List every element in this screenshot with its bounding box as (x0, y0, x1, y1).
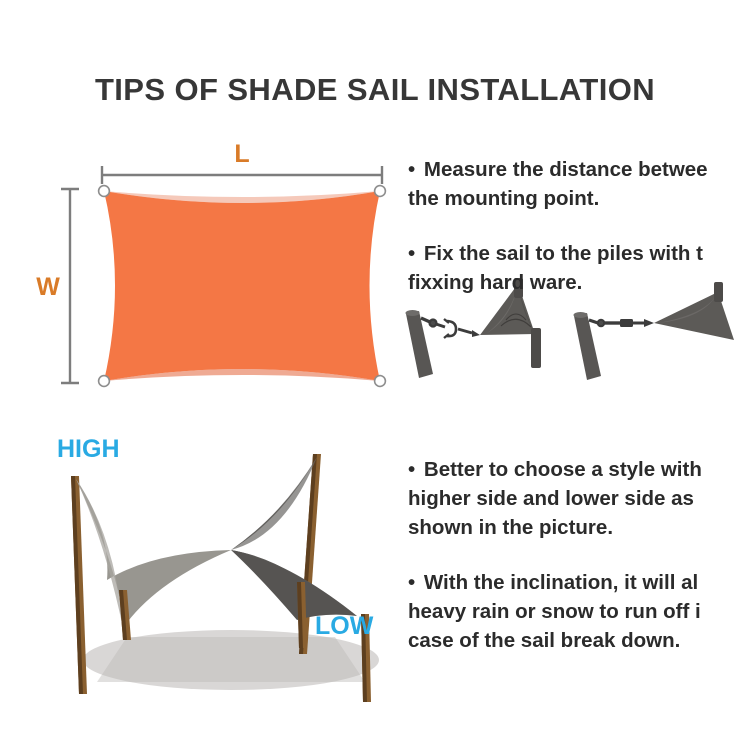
tip-paragraph: • Fix the sail to the piles with t fixxi… (408, 239, 750, 297)
sail-light (76, 479, 231, 628)
tip-paragraph: • Better to choose a style with higher s… (408, 455, 750, 542)
length-label: L (234, 140, 249, 168)
dimension-diagram: L W (30, 135, 405, 410)
bullet-icon: • (408, 158, 418, 181)
low-label: LOW (315, 612, 374, 640)
tip-line-text: Better to choose a style with (424, 458, 702, 481)
turnbuckle-left (421, 318, 480, 338)
tip-line: heavy rain or snow to run off i (408, 597, 750, 626)
tip-line: • Fix the sail to the piles with t (408, 239, 750, 268)
infographic-root: TIPS OF SHADE SAIL INSTALLATION (0, 0, 750, 750)
bullet-icon: • (408, 458, 418, 481)
anchor-tab-left-bottom (531, 328, 541, 368)
sail-dark (231, 457, 357, 620)
length-dimension-line (102, 166, 382, 184)
tips-text-top: • Measure the distance betwee the mounti… (408, 155, 750, 297)
bullet-icon: • (408, 571, 418, 594)
tip-line-text: With the inclination, it will al (424, 571, 698, 594)
tip-line: • With the inclination, it will al (408, 568, 750, 597)
grommet-bottom-left (99, 376, 110, 387)
turnbuckle-right (589, 319, 654, 327)
tip-line-text: Fix the sail to the piles with t (424, 242, 703, 265)
width-dimension-line (61, 189, 79, 383)
grommet-bottom-right (375, 376, 386, 387)
grommet-top-left (99, 186, 110, 197)
tip-line: fixxing hard ware. (408, 268, 750, 297)
ground-shadow-band (97, 637, 365, 682)
installation-diagram: HIGH LOW (35, 432, 415, 717)
width-label: W (36, 273, 60, 301)
bullet-icon: • (408, 242, 418, 265)
post-back-left (71, 476, 87, 694)
high-label: HIGH (57, 435, 120, 463)
page-title: TIPS OF SHADE SAIL INSTALLATION (0, 72, 750, 108)
tip-line: shown in the picture. (408, 513, 750, 542)
grommet-top-right (375, 186, 386, 197)
tip-line: case of the sail break down. (408, 626, 750, 655)
installation-diagram-svg: HIGH LOW (35, 432, 415, 717)
tip-line-text: Measure the distance betwee (424, 158, 708, 181)
tips-text-bottom: • Better to choose a style with higher s… (408, 455, 750, 655)
tip-line: • Better to choose a style with (408, 455, 750, 484)
shade-sail-shape (104, 191, 380, 381)
dimension-diagram-svg: L W (30, 135, 405, 410)
tip-paragraph: • With the inclination, it will al heavy… (408, 568, 750, 655)
tip-line: higher side and lower side as (408, 484, 750, 513)
tip-line: • Measure the distance betwee (408, 155, 750, 184)
tip-paragraph: • Measure the distance betwee the mounti… (408, 155, 750, 213)
tip-line: the mounting point. (408, 184, 750, 213)
